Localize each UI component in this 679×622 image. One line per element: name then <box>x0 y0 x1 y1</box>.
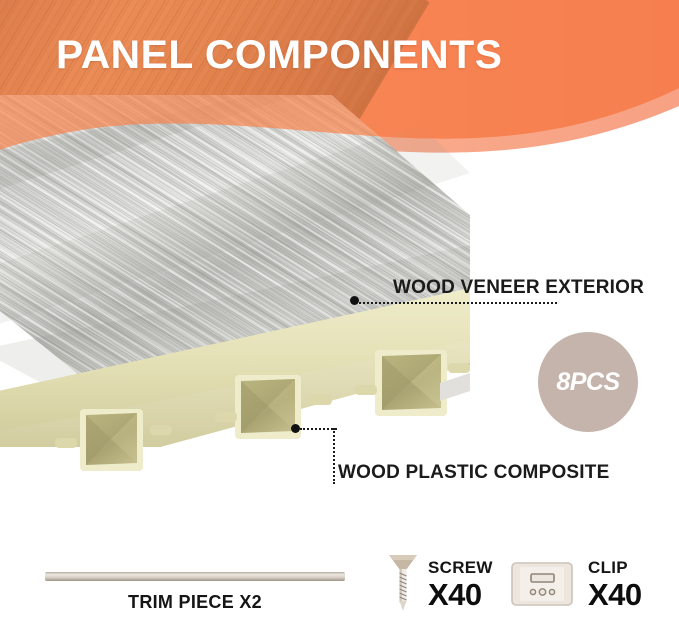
veneer-callout-leader-line <box>359 302 557 304</box>
trim-bar-icon <box>45 572 345 581</box>
accessory-quantity-screw: X40 <box>428 577 482 613</box>
callout-label-wood-plastic-composite: WOOD PLASTIC COMPOSITE <box>338 462 609 484</box>
page-title: PANEL COMPONENTS <box>56 33 502 78</box>
screw-icon <box>386 553 420 615</box>
accessory-label-trim-piece: TRIM PIECE X2 <box>0 592 390 613</box>
banner-orange-overlay <box>0 0 679 175</box>
accessory-trim-piece: TRIM PIECE X2 <box>0 545 380 622</box>
wpc-callout-dot <box>291 424 300 433</box>
clip-icon <box>510 559 576 609</box>
quantity-badge: 8PCS <box>538 332 638 432</box>
accessory-screw: SCREW X40 <box>380 545 515 622</box>
wpc-callout-leader-horizontal <box>300 428 337 430</box>
panel-components-infographic: PANEL COMPONENTS <box>0 0 679 622</box>
hollow-chamber <box>375 350 447 416</box>
wpc-callout-leader-vertical <box>333 428 335 484</box>
quantity-badge-text: 8PCS <box>556 368 619 397</box>
accessory-label-screw: SCREW <box>428 558 493 578</box>
accessories-row: TRIM PIECE X2 <box>0 545 679 622</box>
accessory-label-clip: CLIP <box>588 558 628 578</box>
hollow-chamber <box>80 409 143 471</box>
accessory-clip: CLIP X40 <box>510 545 670 622</box>
header-banner: PANEL COMPONENTS <box>0 0 679 175</box>
veneer-callout-dot <box>350 296 359 305</box>
callout-label-wood-veneer-exterior: WOOD VENEER EXTERIOR <box>393 277 644 299</box>
accessory-quantity-clip: X40 <box>588 577 642 613</box>
